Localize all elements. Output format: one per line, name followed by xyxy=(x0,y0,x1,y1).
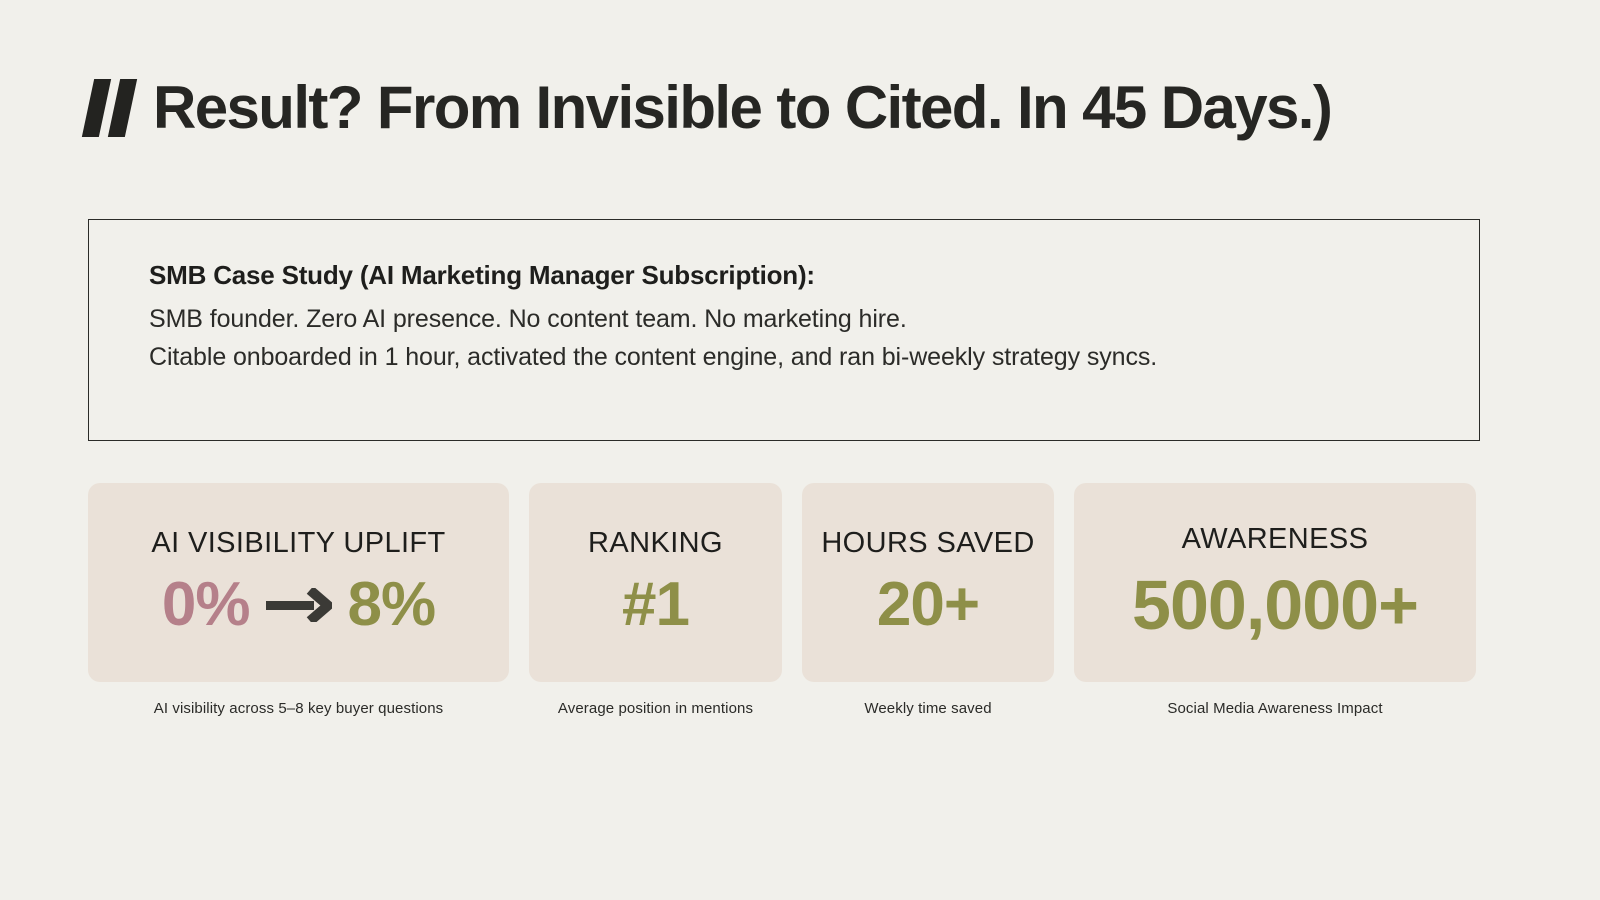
page-title: Result? From Invisible to Cited. In 45 D… xyxy=(153,78,1331,138)
stat-card-awareness: AWARENESS 500,000+ xyxy=(1074,483,1476,682)
stat-card-visibility: AI VISIBILITY UPLIFT 0% 8% xyxy=(88,483,509,682)
stat-caption: Weekly time saved xyxy=(802,700,1054,717)
stat-label: AI VISIBILITY UPLIFT xyxy=(151,529,445,558)
slash-bar-1 xyxy=(82,79,111,137)
stat-col-ranking: RANKING #1 Average position in mentions xyxy=(529,483,782,717)
stat-label: AWARENESS xyxy=(1182,525,1369,554)
case-study-box: SMB Case Study (AI Marketing Manager Sub… xyxy=(88,219,1480,441)
slash-bar-2 xyxy=(108,79,137,137)
case-study-heading: SMB Case Study (AI Marketing Manager Sub… xyxy=(149,260,1479,291)
stat-col-hours-saved: HOURS SAVED 20+ Weekly time saved xyxy=(802,483,1054,717)
stat-card-hours-saved: HOURS SAVED 20+ xyxy=(802,483,1054,682)
stat-value: 20+ xyxy=(877,574,979,636)
stat-card-row: AI VISIBILITY UPLIFT 0% 8% AI visibility… xyxy=(88,483,1480,717)
case-study-line-2: Citable onboarded in 1 hour, activated t… xyxy=(149,343,1479,372)
case-study-line-1: SMB founder. Zero AI presence. No conten… xyxy=(149,305,1479,334)
double-slash-mark-icon xyxy=(88,79,131,137)
arrow-right-icon xyxy=(266,588,332,622)
stat-caption: Average position in mentions xyxy=(529,700,782,717)
stat-caption: Social Media Awareness Impact xyxy=(1074,700,1476,717)
stat-col-awareness: AWARENESS 500,000+ Social Media Awarenes… xyxy=(1074,483,1476,717)
stat-col-visibility: AI VISIBILITY UPLIFT 0% 8% AI visibility… xyxy=(88,483,509,717)
uplift-value-group: 0% 8% xyxy=(162,574,435,636)
stat-label: RANKING xyxy=(588,529,723,558)
slide-root: Result? From Invisible to Cited. In 45 D… xyxy=(0,0,1600,900)
stat-value: #1 xyxy=(622,574,689,636)
uplift-to-value: 8% xyxy=(348,574,436,636)
stat-card-ranking: RANKING #1 xyxy=(529,483,782,682)
stat-caption: AI visibility across 5–8 key buyer quest… xyxy=(88,700,509,717)
stat-label: HOURS SAVED xyxy=(821,529,1034,558)
stat-value: 500,000+ xyxy=(1132,570,1418,640)
uplift-from-value: 0% xyxy=(162,574,250,636)
title-row: Result? From Invisible to Cited. In 45 D… xyxy=(88,78,1331,138)
